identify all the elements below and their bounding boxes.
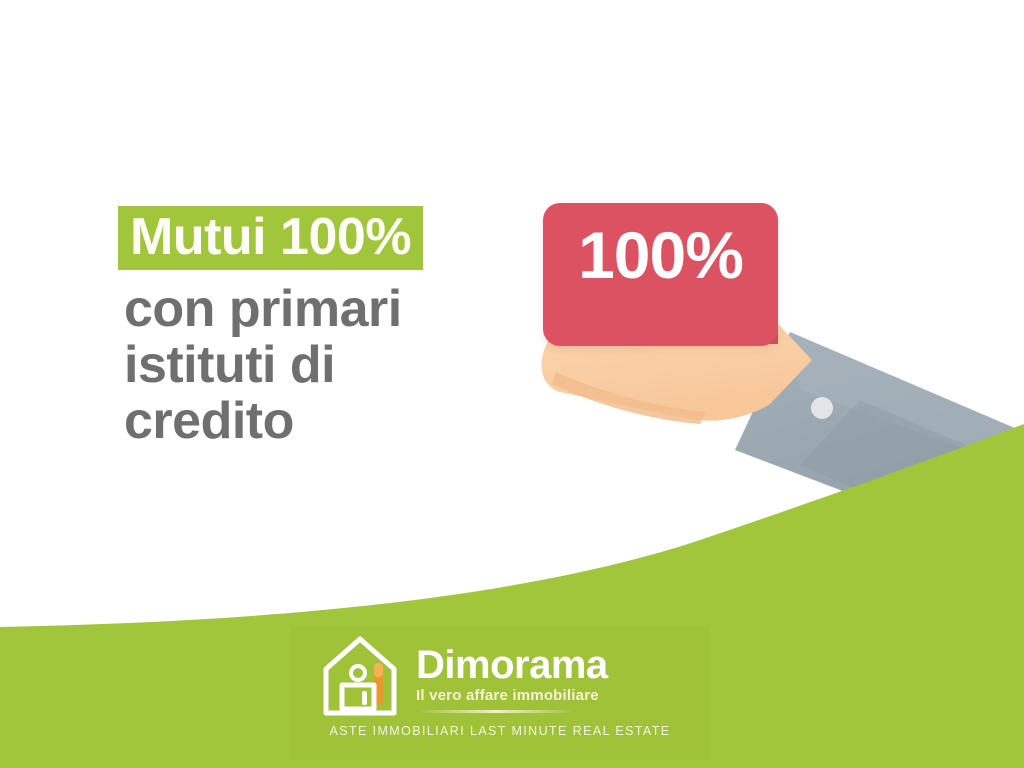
logo-wordmark: Dimorama Il vero affare immobiliare xyxy=(416,640,608,713)
headline-line-1: con primari xyxy=(124,282,524,336)
cuff-button-icon xyxy=(811,397,833,419)
logo-footnote: ASTE IMMOBILIARI LAST MINUTE REAL ESTATE xyxy=(290,723,710,739)
logo-tagline: Il vero affare immobiliare xyxy=(416,687,608,705)
promo-card-value: 100% xyxy=(543,220,778,290)
house-outline-icon xyxy=(318,633,410,719)
headline-line-3: credito xyxy=(124,394,524,448)
headline-highlight: Mutui 100% xyxy=(118,206,423,270)
headline-subtext: con primari istituti di credito xyxy=(124,282,524,448)
headline-line-2: istituti di xyxy=(124,338,524,392)
brand-logo-lockup: Dimorama Il vero affare immobiliare ASTE… xyxy=(290,627,710,760)
promotional-banner: Mutui 100% con primari istituti di credi… xyxy=(0,0,1024,768)
logo-divider xyxy=(422,710,570,713)
logo-row: Dimorama Il vero affare immobiliare xyxy=(318,633,608,719)
headline-block: Mutui 100% con primari istituti di credi… xyxy=(124,206,524,448)
promo-percentage-card: 100% xyxy=(543,203,778,346)
logo-name: Dimorama xyxy=(416,644,608,686)
